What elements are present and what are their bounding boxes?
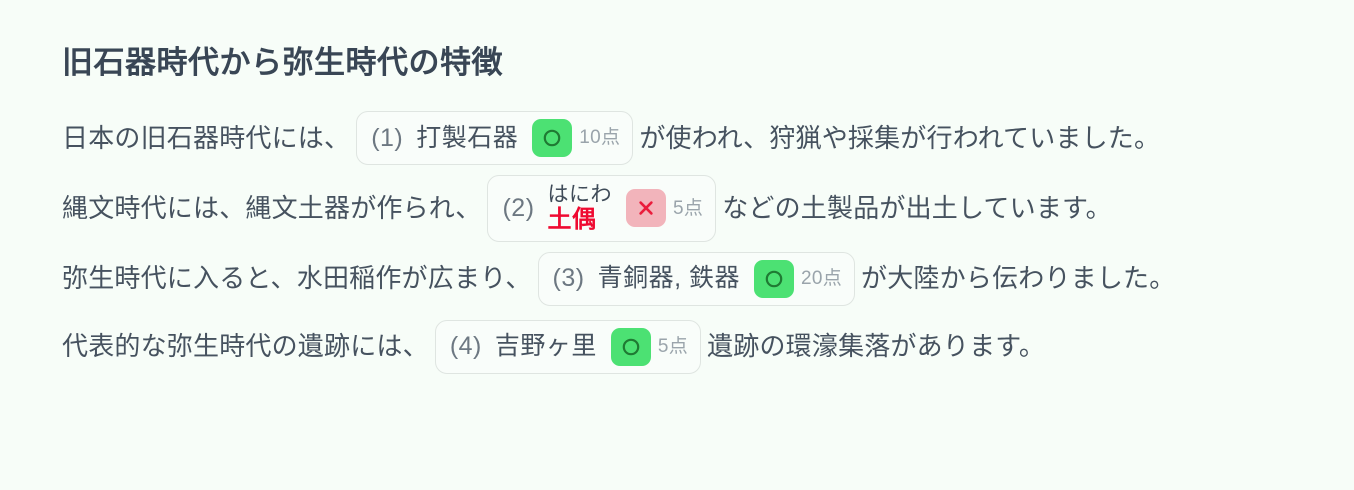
sentence-text-after: 遺跡の環濠集落があります。 (707, 330, 1045, 363)
sentence-text-before: 代表的な弥生時代の遺跡には、 (62, 330, 429, 363)
circle-correct-icon (611, 328, 651, 366)
chip-answer: 打製石器 (416, 123, 518, 154)
circle-correct-icon (532, 119, 572, 157)
sentence-list: 日本の旧石器時代には、 (1) 打製石器 10点 が使われ、狩猟や採集が行われて… (62, 107, 1354, 377)
answer-chip-2[interactable]: (2) はにわ 土偶 5点 (487, 175, 716, 241)
sentence-row: 代表的な弥生時代の遺跡には、 (4) 吉野ヶ里 5点 遺跡の環濠集落があります。 (62, 316, 1354, 378)
grading-page: 旧石器時代から弥生時代の特徴 日本の旧石器時代には、 (1) 打製石器 10点 … (0, 0, 1354, 378)
sentence-row: 縄文時代には、縄文土器が作られ、 (2) はにわ 土偶 5点 などの土製品が出土… (62, 175, 1354, 241)
sentence-text-after: などの土製品が出土しています。 (722, 192, 1112, 225)
sentence-text-before: 縄文時代には、縄文土器が作られ、 (62, 192, 481, 225)
answer-chip-3[interactable]: (3) 青銅器, 鉄器 20点 (538, 252, 856, 306)
chip-answer: 青銅器, 鉄器 (598, 263, 740, 294)
sentence-text-after: が使われ、狩猟や採集が行われていました。 (639, 122, 1160, 155)
chip-index: (3) (553, 263, 585, 294)
sentence-text-before: 弥生時代に入ると、水田稲作が広まり、 (62, 262, 532, 295)
page-title: 旧石器時代から弥生時代の特徴 (62, 44, 1354, 81)
cross-wrong-icon (626, 189, 666, 227)
chip-score: 20点 (801, 267, 842, 291)
answer-chip-4[interactable]: (4) 吉野ヶ里 5点 (435, 320, 701, 374)
chip-index: (1) (371, 123, 403, 154)
sentence-row: 弥生時代に入ると、水田稲作が広まり、 (3) 青銅器, 鉄器 20点 が大陸から… (62, 248, 1354, 310)
sentence-text-after: が大陸から伝わりました。 (861, 262, 1175, 295)
chip-index: (4) (450, 331, 482, 362)
answer-chip-1[interactable]: (1) 打製石器 10点 (356, 111, 633, 165)
chip-correct-answer: 土偶 (548, 207, 613, 234)
chip-score: 5点 (658, 335, 688, 359)
sentence-text-before: 日本の旧石器時代には、 (62, 122, 350, 155)
chip-answer-stack: はにわ 土偶 (548, 183, 613, 233)
chip-score: 5点 (673, 197, 703, 221)
chip-user-answer: はにわ (548, 183, 613, 207)
chip-index: (2) (502, 193, 534, 224)
sentence-row: 日本の旧石器時代には、 (1) 打製石器 10点 が使われ、狩猟や採集が行われて… (62, 107, 1354, 169)
chip-answer: 吉野ヶ里 (495, 331, 597, 362)
circle-correct-icon (754, 260, 794, 298)
chip-score: 10点 (579, 126, 620, 150)
